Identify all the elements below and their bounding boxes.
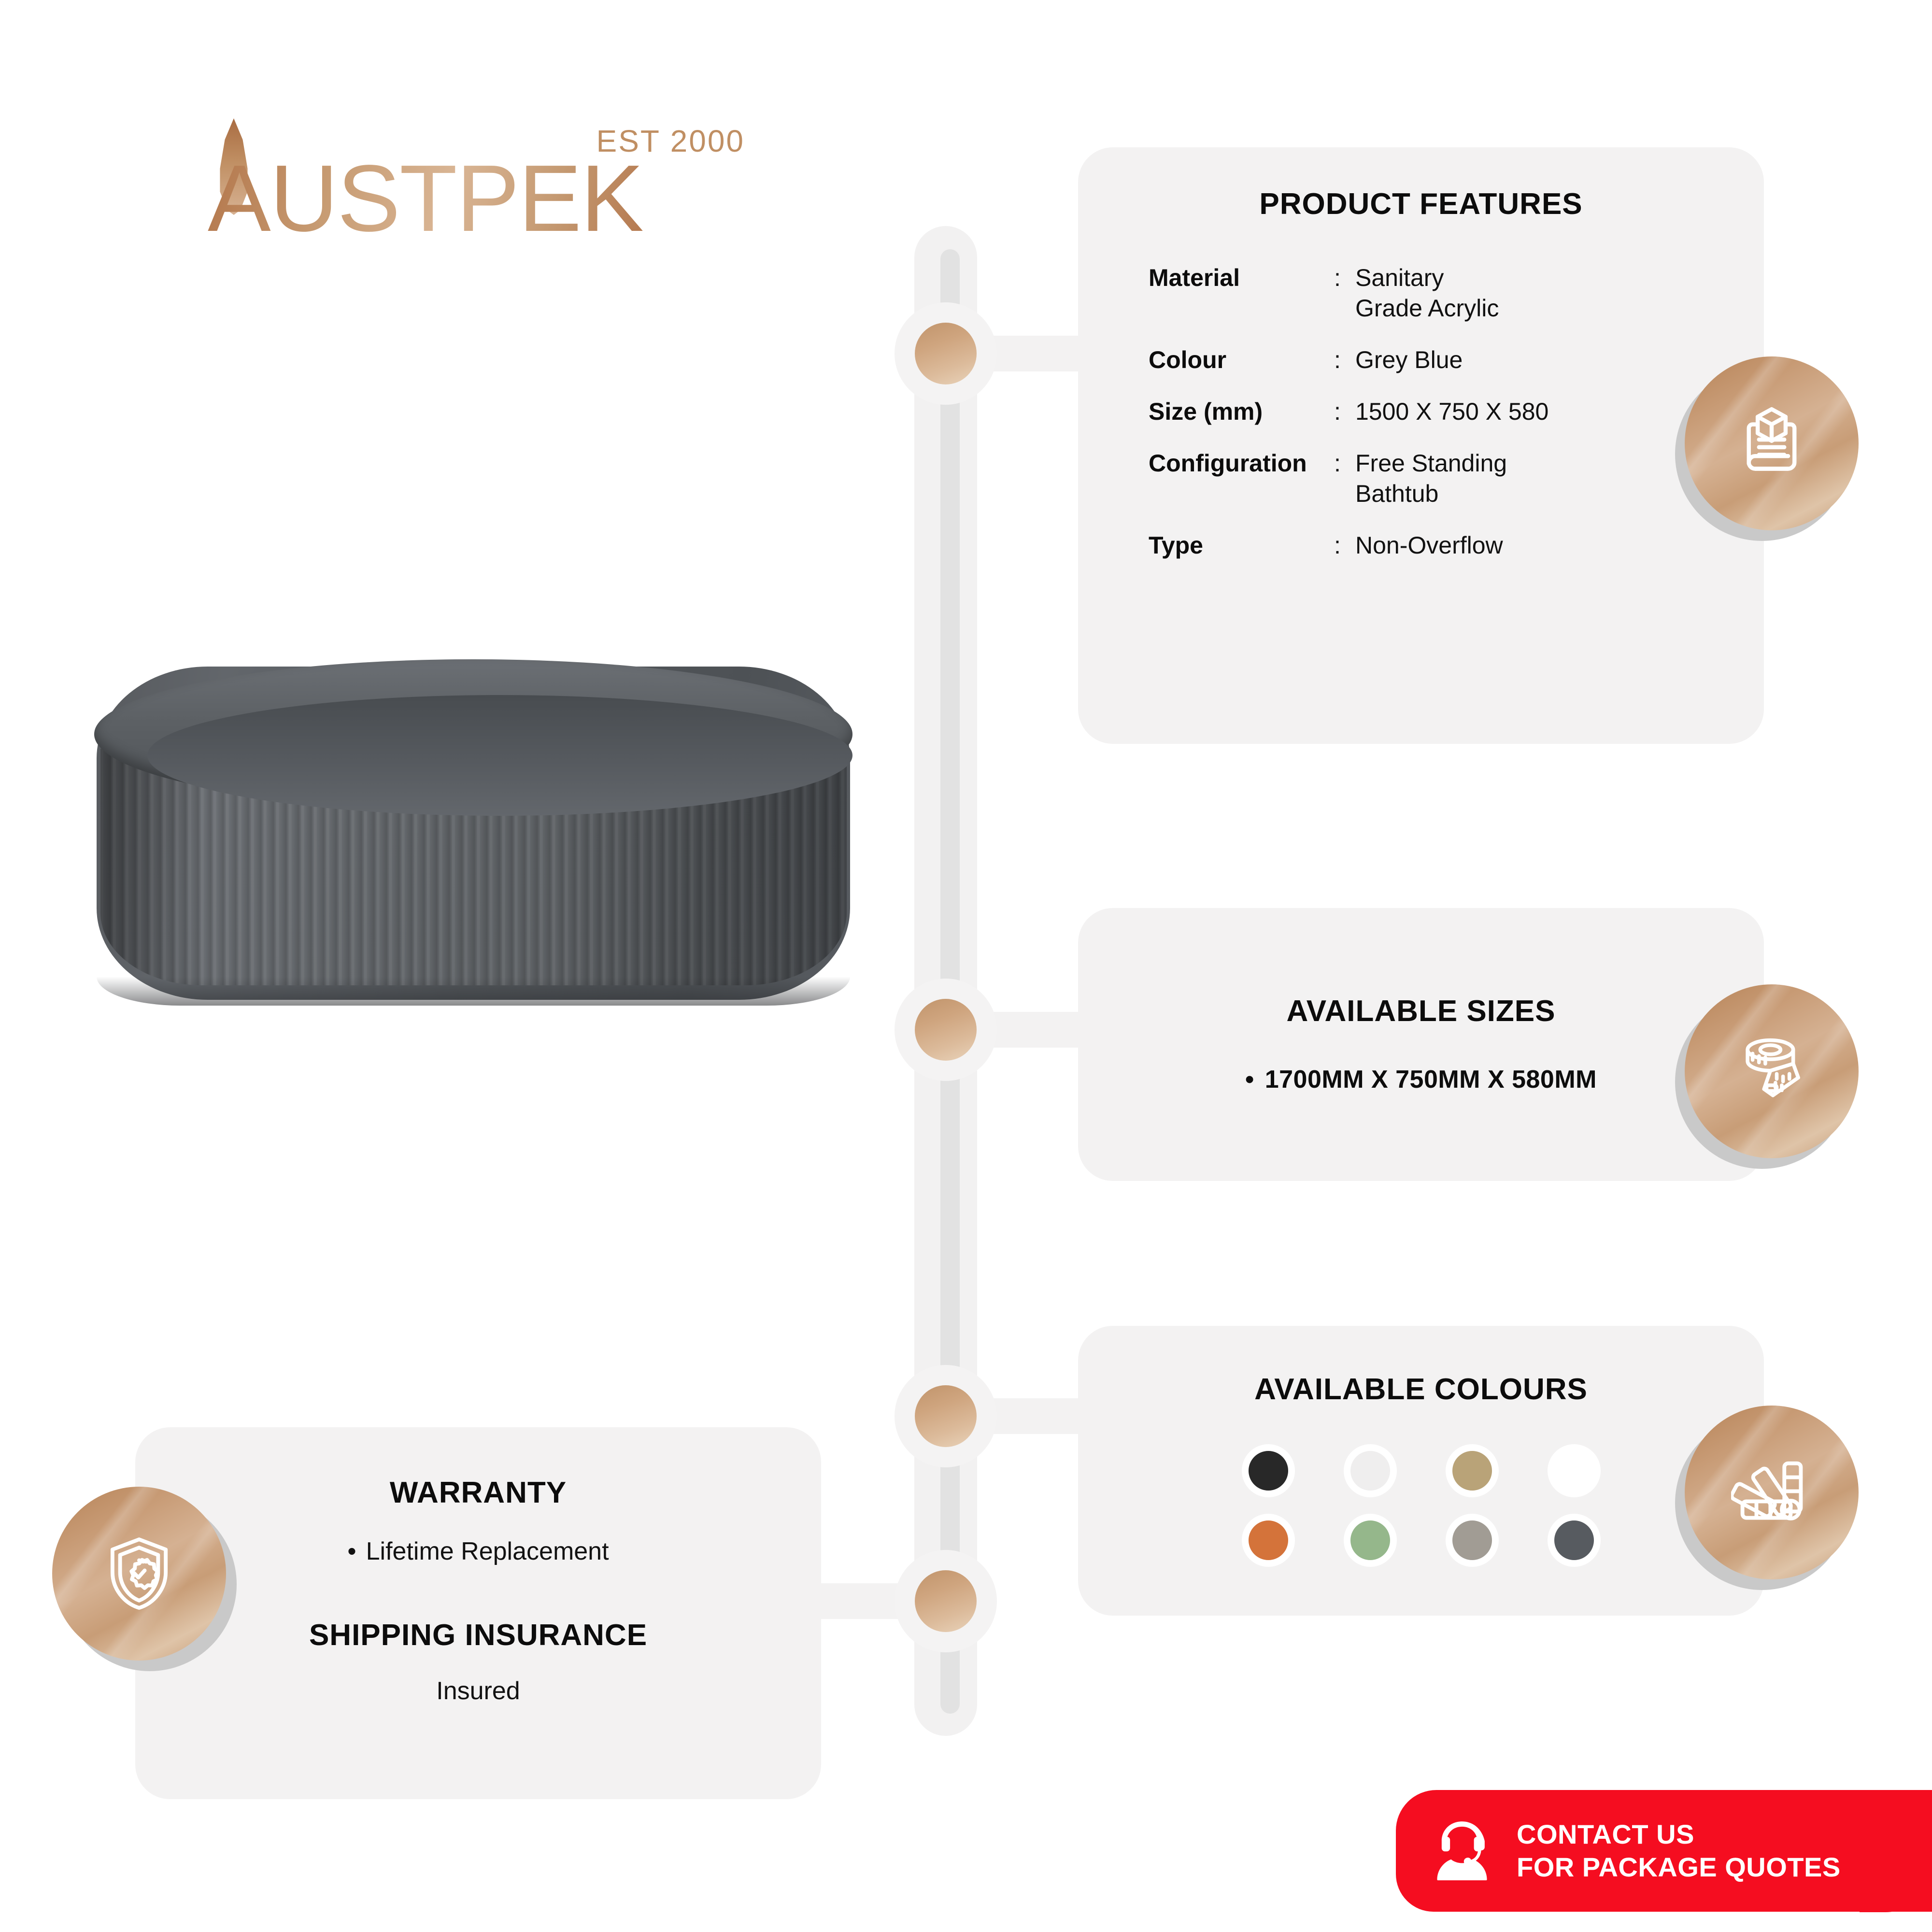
colour-swatch-gloss-white[interactable] xyxy=(1344,1444,1397,1497)
warranty-list: Lifetime Replacement xyxy=(135,1537,821,1566)
headset-support-icon-glyph xyxy=(1426,1815,1498,1887)
spec-row-material: Material : Sanitary Grade Acrylic xyxy=(1149,263,1764,324)
rail-node-colours[interactable] xyxy=(895,1365,997,1467)
available-sizes-list: 1700MM X 750MM X 580MM xyxy=(1078,1065,1764,1094)
brand-name-text: AUSTPEK xyxy=(208,151,643,246)
colour-swatch-warm-grey[interactable] xyxy=(1446,1514,1499,1567)
product-features-title: PRODUCT FEATURES xyxy=(1078,187,1764,221)
product-features-table: Material : Sanitary Grade Acrylic Colour… xyxy=(1078,263,1764,561)
bathtub-rim xyxy=(94,659,852,809)
spec-colon: : xyxy=(1334,397,1355,427)
spec-colon: : xyxy=(1334,345,1355,375)
spec-row-configuration: Configuration : Free Standing Bathtub xyxy=(1149,448,1764,509)
card-product-features: PRODUCT FEATURES Material : Sanitary Gra… xyxy=(1078,147,1764,744)
badge-available-sizes xyxy=(1685,984,1859,1158)
spec-key: Configuration xyxy=(1149,448,1334,509)
bathtub-interior xyxy=(147,695,852,816)
badge-available-colours xyxy=(1685,1406,1859,1579)
card-available-sizes: AVAILABLE SIZES 1700MM X 750MM X 580MM xyxy=(1078,908,1764,1181)
spec-row-colour: Colour : Grey Blue xyxy=(1149,345,1764,375)
colour-swatch-champagne[interactable] xyxy=(1446,1444,1499,1497)
headset-support-icon xyxy=(1426,1815,1498,1887)
available-sizes-title: AVAILABLE SIZES xyxy=(1078,994,1764,1028)
card-available-colours: AVAILABLE COLOURS xyxy=(1078,1326,1764,1616)
contact-us-banner[interactable]: CONTACT US FOR PACKAGE QUOTES xyxy=(1396,1790,1932,1912)
spec-key: Colour xyxy=(1149,345,1334,375)
rail-node-dot xyxy=(915,1385,977,1447)
available-colours-title: AVAILABLE COLOURS xyxy=(1078,1372,1764,1406)
spec-value: Non-Overflow xyxy=(1355,530,1503,561)
rail-node-dot xyxy=(915,1570,977,1632)
rail-node-dot xyxy=(915,323,977,384)
infographic-canvas: EST 2000 AUSTPEK PRODUCT FEATURES Materi… xyxy=(0,0,1932,1932)
badge-product-features xyxy=(1685,356,1859,530)
colour-swatch-grid xyxy=(1233,1444,1609,1567)
spec-row-type: Type : Non-Overflow xyxy=(1149,530,1764,561)
rail-node-features[interactable] xyxy=(895,302,997,405)
spec-colon: : xyxy=(1334,263,1355,324)
rail-node-warranty[interactable] xyxy=(895,1550,997,1652)
colour-swatch-white[interactable] xyxy=(1548,1444,1601,1497)
spec-key: Material xyxy=(1149,263,1334,324)
measuring-tape-icon xyxy=(1731,1031,1812,1112)
warranty-title: WARRANTY xyxy=(135,1476,821,1510)
brand-logo: EST 2000 AUSTPEK xyxy=(208,123,749,249)
spec-key: Type xyxy=(1149,530,1334,561)
colour-swatch-terracotta[interactable] xyxy=(1242,1514,1295,1567)
warranty-item: Lifetime Replacement xyxy=(135,1537,821,1566)
size-item: 1700MM X 750MM X 580MM xyxy=(1078,1065,1764,1094)
rail-node-sizes[interactable] xyxy=(895,979,997,1081)
contact-us-line-2: FOR PACKAGE QUOTES xyxy=(1517,1851,1841,1884)
spec-colon: : xyxy=(1334,530,1355,561)
spec-key: Size (mm) xyxy=(1149,397,1334,427)
shipping-insurance-value: Insured xyxy=(135,1676,821,1705)
contact-us-text: CONTACT US FOR PACKAGE QUOTES xyxy=(1517,1818,1841,1884)
spec-value: Free Standing Bathtub xyxy=(1355,448,1507,509)
product-image-bathtub xyxy=(68,638,879,1005)
spec-value: 1500 X 750 X 580 xyxy=(1355,397,1548,427)
badge-warranty xyxy=(52,1487,226,1661)
shield-badge-icon xyxy=(99,1533,180,1614)
shipping-insurance-title: SHIPPING INSURANCE xyxy=(135,1618,821,1652)
rail-node-dot xyxy=(915,999,977,1061)
spec-value: Sanitary Grade Acrylic xyxy=(1355,263,1499,324)
contact-us-line-1: CONTACT US xyxy=(1517,1818,1841,1851)
colour-swatch-sage-green[interactable] xyxy=(1344,1514,1397,1567)
product-spec-document-icon xyxy=(1731,403,1812,484)
card-warranty: WARRANTY Lifetime Replacement SHIPPING I… xyxy=(135,1427,821,1799)
spec-value: Grey Blue xyxy=(1355,345,1463,375)
spec-row-size: Size (mm) : 1500 X 750 X 580 xyxy=(1149,397,1764,427)
spec-colon: : xyxy=(1334,448,1355,509)
colour-palette-icon xyxy=(1731,1452,1812,1533)
colour-swatch-grey-blue[interactable] xyxy=(1548,1514,1601,1567)
colour-swatch-matte-black[interactable] xyxy=(1242,1444,1295,1497)
